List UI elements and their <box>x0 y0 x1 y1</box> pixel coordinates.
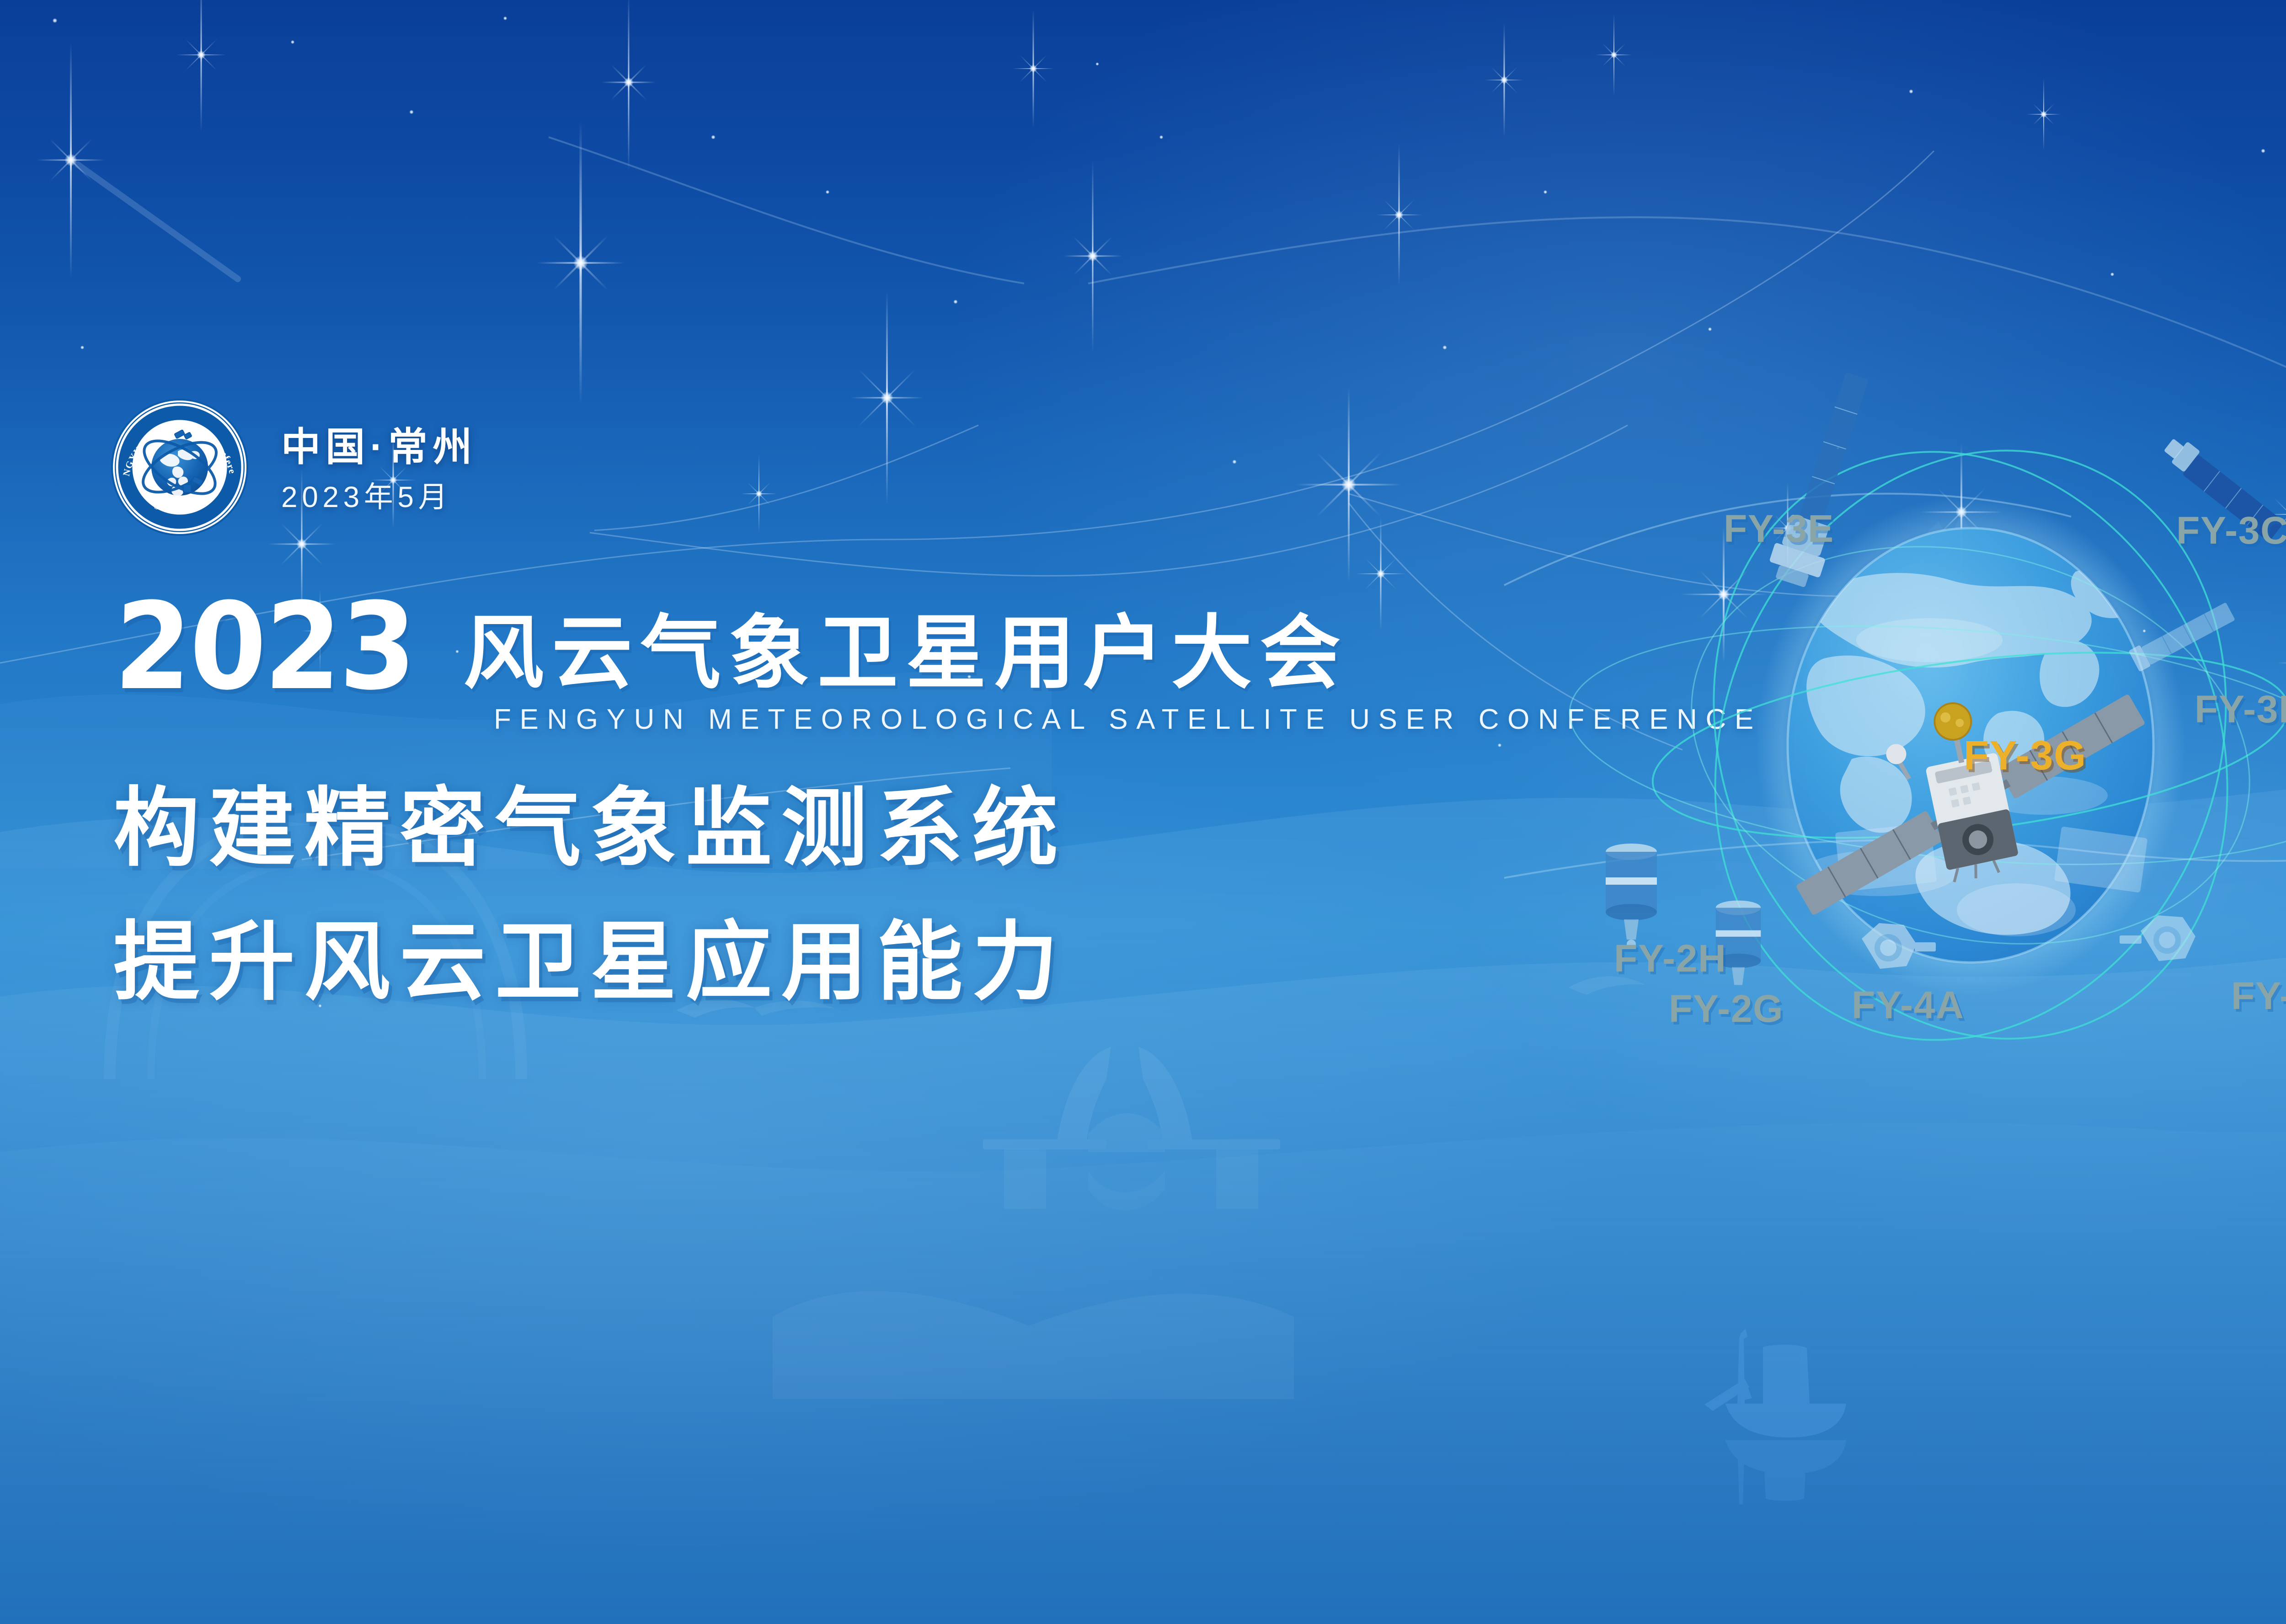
star-dot <box>503 16 507 20</box>
star-dot <box>2261 149 2265 153</box>
star-dot <box>1159 135 1163 139</box>
star-dot <box>1498 743 1501 747</box>
star-dot <box>826 190 829 194</box>
star-dot <box>53 18 57 23</box>
location-date-block: 中国·常州 2023年5月 <box>281 427 537 512</box>
sailing-boat-silhouette <box>1628 1289 1939 1545</box>
star-dot <box>711 135 716 139</box>
star-dot <box>1909 90 1913 94</box>
event-date-label: 2023年5月 <box>281 482 537 512</box>
satellite-label-fy-2g: FY-2G <box>1669 987 1784 1031</box>
star-dot <box>2110 272 2114 276</box>
satellite-label-fy-3g: FY-3G <box>1964 732 2087 780</box>
satellite-label-fy-4a: FY-4A <box>1852 983 1964 1027</box>
satellite-label-fy-3d: FY-3D <box>2195 687 2286 732</box>
conference-poster: FENGYUN Satellite User Conference Changz… <box>0 0 2286 1624</box>
conference-title-block: 2023 风云气象卫星用户大会 FENGYUN METEOROLOGICAL S… <box>113 594 1759 734</box>
fengyun-conference-seal-icon: FENGYUN Satellite User Conference Changz… <box>111 399 248 536</box>
satellite-label-fy-4b: FY-4B <box>2231 974 2286 1018</box>
conference-slogan-block: 构建精密气象监测系统 提升风云卫星应用能力 <box>113 761 1068 1030</box>
host-city-label: 中国·常州 <box>281 427 537 467</box>
star-dot <box>80 346 84 349</box>
star-dot <box>1708 327 1712 331</box>
title-main-row: 2023 风云气象卫星用户大会 <box>113 594 1759 700</box>
satellite-constellation-scene: FY-3E FY-3C FY-3D FY-3G FY-2H FY-2G FY-4… <box>1532 366 2286 1143</box>
star-dot <box>291 40 294 44</box>
star-dot <box>1443 346 1447 350</box>
satellite-fy-4b-icon <box>2120 915 2195 961</box>
star-dot <box>1096 63 1099 66</box>
satellite-fy-2h-icon <box>1606 844 1657 949</box>
star-dot <box>1233 460 1237 464</box>
slogan-line-1: 构建精密气象监测系统 <box>113 761 1068 895</box>
satellite-label-fy-2h: FY-2H <box>1614 936 1726 981</box>
satellite-label-fy-3c: FY-3C <box>2176 508 2286 553</box>
star-dot <box>410 110 414 114</box>
satellite-label-fy-3e: FY-3E <box>1724 507 1834 551</box>
star-dot <box>1544 190 1547 194</box>
conference-year: 2023 <box>113 594 416 700</box>
slogan-line-2: 提升风云卫星应用能力 <box>113 895 1068 1029</box>
conference-seal-logo: FENGYUN Satellite User Conference Changz… <box>111 399 248 536</box>
star-dot <box>954 300 958 304</box>
conference-title-chinese: 风云气象卫星用户大会 <box>463 613 1348 694</box>
sailing-boat-icon <box>1628 1289 1939 1545</box>
